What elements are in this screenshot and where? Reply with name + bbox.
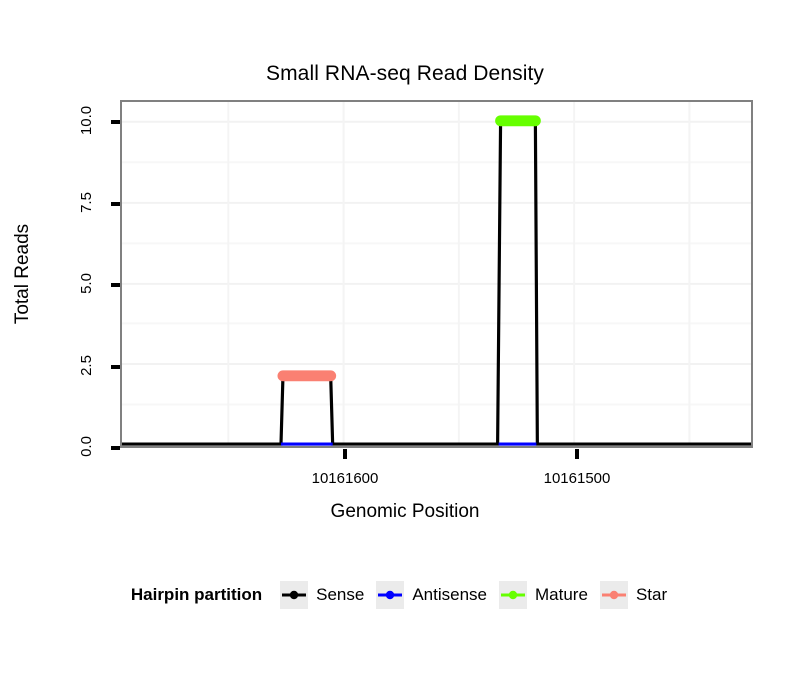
legend-glyph-mature-icon: [500, 582, 526, 608]
legend-glyph-star-icon: [601, 582, 627, 608]
x-tick-mark-10161500: [575, 449, 579, 459]
x-axis-label: Genomic Position: [0, 501, 810, 523]
legend-glyph-antisense-icon: [377, 582, 403, 608]
legend-item-star[interactable]: Star: [600, 581, 667, 609]
y-tick-label-10: 10.0: [78, 106, 95, 135]
legend: Hairpin partition Sense Antisense: [0, 581, 810, 609]
legend-key-mature: [499, 581, 527, 609]
y-tick-mark-10: [111, 120, 120, 124]
y-tick-label-0: 0.0: [78, 436, 95, 457]
legend-key-star: [600, 581, 628, 609]
y-tick-mark-5: [111, 283, 120, 287]
legend-label-sense: Sense: [316, 585, 364, 605]
legend-item-sense[interactable]: Sense: [280, 581, 364, 609]
legend-item-antisense[interactable]: Antisense: [376, 581, 487, 609]
y-tick-label-5: 5.0: [78, 273, 95, 294]
gridlines-horizontal-major: [122, 122, 751, 445]
y-tick-label-7_5: 7.5: [78, 192, 95, 213]
legend-key-antisense: [376, 581, 404, 609]
legend-label-antisense: Antisense: [412, 585, 487, 605]
legend-label-star: Star: [636, 585, 667, 605]
legend-item-mature[interactable]: Mature: [499, 581, 588, 609]
y-tick-mark-0: [111, 446, 120, 450]
legend-title: Hairpin partition: [131, 585, 262, 605]
plot-panel: [120, 100, 753, 448]
plot-canvas: [122, 102, 751, 446]
series-line-sense: [122, 121, 751, 444]
y-tick-label-2_5: 2.5: [78, 355, 95, 376]
legend-key-sense: [280, 581, 308, 609]
x-tick-label-10161500: 10161500: [544, 470, 611, 487]
legend-label-mature: Mature: [535, 585, 588, 605]
y-tick-mark-7_5: [111, 202, 120, 206]
x-tick-mark-10161600: [343, 449, 347, 459]
y-axis-label: Total Reads: [12, 224, 34, 324]
x-tick-label-10161600: 10161600: [312, 470, 379, 487]
chart-title: Small RNA-seq Read Density: [0, 62, 810, 86]
gridlines-vertical: [228, 102, 689, 446]
y-tick-mark-2_5: [111, 365, 120, 369]
legend-glyph-sense-icon: [281, 582, 307, 608]
chart-root: Small RNA-seq Read Density Total Reads G…: [0, 0, 810, 690]
